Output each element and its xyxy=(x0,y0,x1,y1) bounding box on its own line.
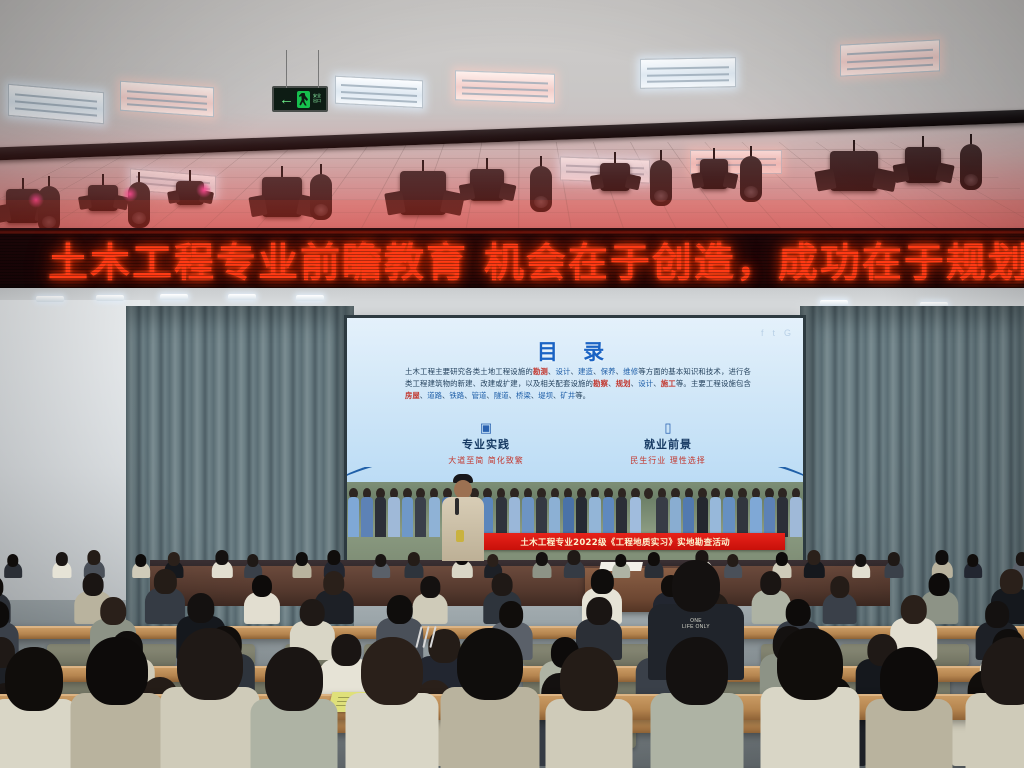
jacket-text-line2: LIFE ONLY xyxy=(682,624,710,630)
moving-head-light xyxy=(960,134,982,192)
audience-member xyxy=(822,576,857,624)
ceiling-light-panel xyxy=(640,57,736,89)
slide-title: 目 录 xyxy=(347,336,803,366)
stage-light-glow xyxy=(196,182,212,198)
presenter-body xyxy=(442,497,484,561)
slide-column-heading: 专业实践 xyxy=(395,436,577,452)
par-stage-light xyxy=(700,148,728,192)
audience-member xyxy=(804,550,824,578)
phone-icon: ▯ xyxy=(577,421,759,434)
ceiling: ← 安全 出口 xyxy=(0,0,1024,250)
slide-column-prospects: ▯ 就业前景 民生行业 理性选择 xyxy=(577,421,759,466)
moving-head-light xyxy=(310,164,332,222)
exit-sign-text: 安全 出口 xyxy=(313,94,321,104)
downlight xyxy=(96,295,124,301)
ceiling-light-panel xyxy=(335,76,423,109)
led-scrolling-banner: 土木工程专业前瞻教育 机会在于创造，成功在于规划 xyxy=(0,228,1024,290)
moving-head-light xyxy=(530,156,552,214)
microphone-icon xyxy=(455,498,459,515)
audience-member xyxy=(244,575,280,624)
presenter xyxy=(440,476,484,560)
par-stage-light xyxy=(88,174,118,214)
downlight xyxy=(160,294,188,300)
audience-member xyxy=(292,552,311,578)
ceiling-light-panel xyxy=(120,81,214,118)
camera-icon: ▣ xyxy=(395,421,577,434)
audience-member xyxy=(4,554,22,578)
jacket-text-line1: ONE xyxy=(690,618,702,624)
slide-column-practice: ▣ 专业实践 大道至简 简化致繁 xyxy=(395,421,577,466)
audience-member xyxy=(532,552,551,578)
exit-sign: ← 安全 出口 xyxy=(272,86,328,112)
par-stage-light xyxy=(400,160,446,218)
audience-member-front xyxy=(650,637,743,768)
audience-member xyxy=(52,552,71,578)
audience-member xyxy=(852,554,870,578)
par-stage-light xyxy=(470,158,504,204)
downlight xyxy=(228,294,256,300)
audience-member-front xyxy=(70,637,163,768)
jacket-logo-text: ONELIFE ONLY xyxy=(682,618,710,631)
running-man-icon xyxy=(297,91,310,108)
downlight xyxy=(36,296,64,302)
audience-member-front xyxy=(545,647,632,768)
par-stage-light xyxy=(830,140,878,194)
audience-member-front xyxy=(760,628,859,768)
audience-member-front xyxy=(440,628,539,768)
par-stage-light xyxy=(905,136,941,186)
slide-body-text: 土木工程主要研究各类土地工程设施的勘测、设计、建造、保养、维修等方面的基本知识和… xyxy=(405,366,751,403)
audience-member-front xyxy=(250,647,337,768)
moving-head-light xyxy=(740,146,762,204)
lecture-hall-photo: ← 安全 出口 土木工程专业前瞻教育 机会在于创造，成功在于规划 ftG 目 录 xyxy=(0,0,1024,768)
student-audience: ONELIFE ONLY xyxy=(0,470,1024,768)
lanyard-badge xyxy=(456,530,464,542)
audience-member xyxy=(212,550,232,578)
audience-member xyxy=(372,554,390,578)
ceiling-light-panel xyxy=(455,70,555,103)
par-stage-light xyxy=(262,166,302,220)
stage-light-glow xyxy=(122,186,138,202)
moving-head-light xyxy=(650,150,672,208)
exit-label-line2: 出口 xyxy=(313,99,321,104)
led-banner-text: 土木工程专业前瞻教育 机会在于创造，成功在于规划 xyxy=(0,230,1024,288)
audience-member-front xyxy=(160,628,259,768)
audience-member xyxy=(964,554,982,578)
exit-arrow-icon: ← xyxy=(279,92,294,107)
audience-member-front xyxy=(865,647,952,768)
par-stage-light xyxy=(600,152,630,194)
stage-light-glow xyxy=(28,192,44,208)
audience-member-front xyxy=(345,637,438,768)
slide-column-subtitle: 民生行业 理性选择 xyxy=(577,455,759,466)
ceiling-light-panel xyxy=(8,84,104,124)
audience-member-front xyxy=(0,647,77,768)
slide-column-heading: 就业前景 xyxy=(577,436,759,452)
downlight xyxy=(296,295,324,301)
ceiling-light-panel xyxy=(840,39,940,76)
audience-member xyxy=(404,552,423,578)
slide-columns: ▣ 专业实践 大道至简 简化致繁 ▯ 就业前景 民生行业 理性选择 xyxy=(395,421,759,466)
audience-member xyxy=(884,552,903,578)
slide-column-subtitle: 大道至简 简化致繁 xyxy=(395,455,577,466)
audience-member-front xyxy=(965,637,1024,768)
